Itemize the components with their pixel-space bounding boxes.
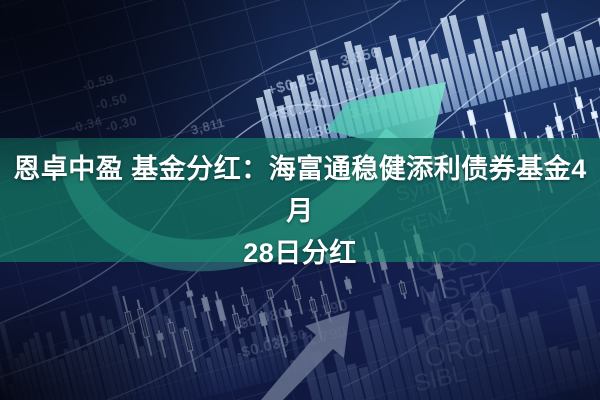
cover-image: +$0.250 3.856 +$0.230 3.726 +$0.130 3.61… (0, 0, 600, 400)
page-title: 恩卓中盈 基金分红：海富通稳健添利债券基金4月 28日分红 (0, 148, 600, 274)
page-title-line-1: 恩卓中盈 基金分红：海富通稳健添利债券基金4月 (6, 148, 594, 232)
page-title-line-2: 28日分红 (6, 232, 594, 274)
